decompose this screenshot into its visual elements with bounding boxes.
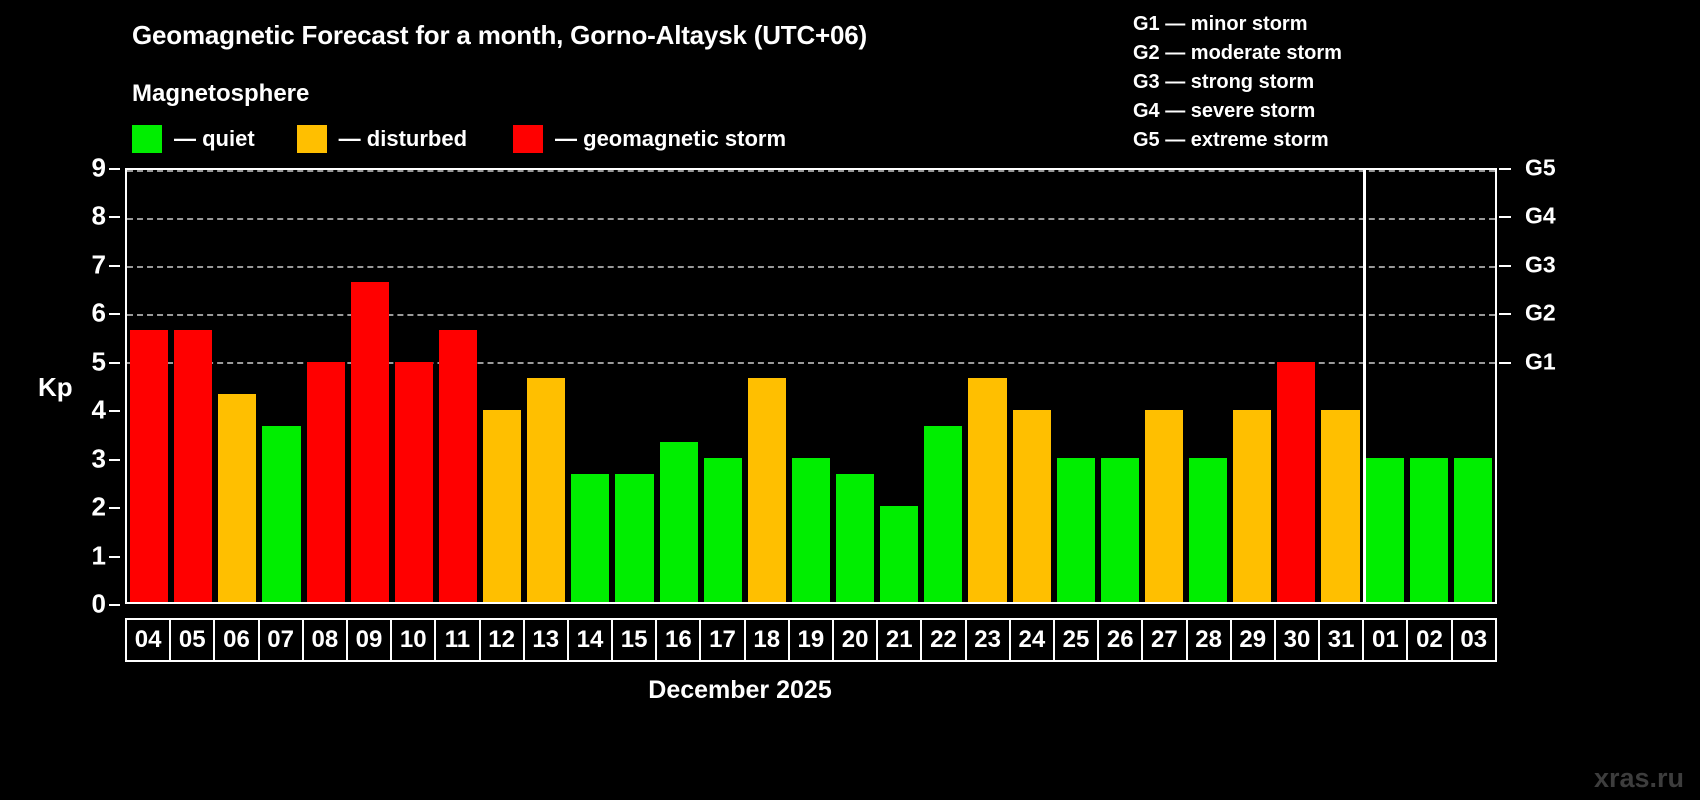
x-label-day-16[interactable]: 16 [655,618,701,662]
bar-day-11[interactable] [439,330,477,602]
bar-day-25[interactable] [1057,458,1095,602]
bar-day-22[interactable] [924,426,962,602]
bar-slot-29[interactable] [1230,170,1274,602]
y-tick-mark-2 [109,507,120,509]
bar-day-02[interactable] [1410,458,1448,602]
bar-day-06[interactable] [218,394,256,602]
y-tick-mark-7 [109,265,120,267]
x-label-day-19[interactable]: 19 [788,618,834,662]
bar-day-04[interactable] [130,330,168,602]
bar-slot-03[interactable] [1451,170,1495,602]
x-label-day-23[interactable]: 23 [965,618,1011,662]
bar-day-30[interactable] [1277,362,1315,602]
g-tick-mark-g3 [1499,265,1511,267]
bar-day-17[interactable] [704,458,742,602]
bar-slot-23[interactable] [965,170,1009,602]
bar-day-27[interactable] [1145,410,1183,602]
x-label-day-22[interactable]: 22 [920,618,966,662]
y-tick-mark-4 [109,410,120,412]
x-label-day-28[interactable]: 28 [1186,618,1232,662]
x-label-day-13[interactable]: 13 [523,618,569,662]
bar-series [127,170,1495,602]
bar-day-21[interactable] [880,506,918,602]
y-axis-title: Kp [38,372,73,403]
x-label-day-27[interactable]: 27 [1141,618,1187,662]
bar-day-16[interactable] [660,442,698,602]
y-tick-label-4: 4 [92,395,106,426]
bar-slot-10[interactable] [392,170,436,602]
y-tick-mark-8 [109,216,120,218]
g-tick-label-g1: G1 [1525,348,1556,375]
g-tick-label-g3: G3 [1525,251,1556,278]
bar-day-19[interactable] [792,458,830,602]
bar-slot-16[interactable] [657,170,701,602]
x-label-day-10[interactable]: 10 [390,618,436,662]
bar-slot-17[interactable] [701,170,745,602]
bar-day-26[interactable] [1101,458,1139,602]
y-tick-label-3: 3 [92,443,106,474]
bar-slot-08[interactable] [304,170,348,602]
bar-day-12[interactable] [483,410,521,602]
x-axis-day-labels: 0405060708091011121314151617181920212223… [125,618,1497,662]
bar-slot-27[interactable] [1142,170,1186,602]
bar-slot-25[interactable] [1054,170,1098,602]
bar-day-15[interactable] [615,474,653,602]
x-label-day-08[interactable]: 08 [302,618,348,662]
bar-day-23[interactable] [968,378,1006,602]
x-label-day-12[interactable]: 12 [479,618,525,662]
plot-panel [125,168,1497,604]
bar-day-03[interactable] [1454,458,1492,602]
bar-slot-04[interactable] [127,170,171,602]
bar-slot-22[interactable] [921,170,965,602]
y-tick-label-9: 9 [92,153,106,184]
x-label-day-25[interactable]: 25 [1053,618,1099,662]
x-label-day-17[interactable]: 17 [699,618,745,662]
bar-day-01[interactable] [1366,458,1404,602]
x-label-day-05[interactable]: 05 [169,618,215,662]
g-tick-label-g2: G2 [1525,300,1556,327]
bar-day-09[interactable] [351,282,389,602]
bar-slot-19[interactable] [789,170,833,602]
bar-slot-26[interactable] [1098,170,1142,602]
y-tick-label-0: 0 [92,589,106,620]
bar-slot-14[interactable] [568,170,612,602]
bar-day-10[interactable] [395,362,433,602]
g-tick-label-g5: G5 [1525,155,1556,182]
x-label-day-09[interactable]: 09 [346,618,392,662]
bar-day-07[interactable] [262,426,300,602]
bar-slot-30[interactable] [1274,170,1318,602]
month-separator [1363,170,1366,602]
chart-area: 0123456789 Kp G1G2G3G4G5 040506070809101… [0,0,1700,800]
y-tick-mark-0 [109,604,120,606]
g-tick-mark-g4 [1499,216,1511,218]
y-tick-label-1: 1 [92,540,106,571]
bar-slot-21[interactable] [877,170,921,602]
x-label-day-30[interactable]: 30 [1274,618,1320,662]
x-label-day-31[interactable]: 31 [1318,618,1364,662]
watermark: xras.ru [1594,763,1684,794]
bar-slot-15[interactable] [612,170,656,602]
bar-slot-28[interactable] [1186,170,1230,602]
x-label-day-04[interactable]: 04 [125,618,171,662]
x-label-day-02[interactable]: 02 [1406,618,1452,662]
x-label-day-11[interactable]: 11 [434,618,480,662]
y-tick-mark-5 [109,362,120,364]
x-label-day-06[interactable]: 06 [213,618,259,662]
bar-day-24[interactable] [1013,410,1051,602]
x-label-day-07[interactable]: 07 [258,618,304,662]
x-label-day-21[interactable]: 21 [876,618,922,662]
bar-slot-07[interactable] [259,170,303,602]
x-label-day-03[interactable]: 03 [1451,618,1497,662]
y-tick-label-8: 8 [92,201,106,232]
g-tick-mark-g2 [1499,313,1511,315]
y-tick-mark-3 [109,459,120,461]
y-tick-label-5: 5 [92,346,106,377]
g-scale-axis: G1G2G3G4G5 [1499,168,1579,604]
x-label-day-01[interactable]: 01 [1362,618,1408,662]
x-label-day-26[interactable]: 26 [1097,618,1143,662]
bar-slot-02[interactable] [1407,170,1451,602]
x-label-day-14[interactable]: 14 [567,618,613,662]
bar-slot-13[interactable] [524,170,568,602]
bar-slot-11[interactable] [436,170,480,602]
y-tick-mark-6 [109,313,120,315]
bar-day-05[interactable] [174,330,212,602]
y-tick-label-6: 6 [92,298,106,329]
x-axis-caption: December 2025 [0,676,1700,705]
bar-slot-06[interactable] [215,170,259,602]
bar-slot-18[interactable] [745,170,789,602]
y-tick-mark-9 [109,168,120,170]
bar-day-13[interactable] [527,378,565,602]
bar-slot-31[interactable] [1318,170,1362,602]
bar-slot-20[interactable] [833,170,877,602]
g-tick-mark-g1 [1499,362,1511,364]
bar-slot-05[interactable] [171,170,215,602]
bar-slot-09[interactable] [348,170,392,602]
bar-slot-12[interactable] [480,170,524,602]
x-label-day-15[interactable]: 15 [611,618,657,662]
x-label-day-18[interactable]: 18 [744,618,790,662]
bar-day-28[interactable] [1189,458,1227,602]
x-axis-caption-text: December 2025 [648,676,831,704]
y-tick-label-2: 2 [92,492,106,523]
bar-day-14[interactable] [571,474,609,602]
bar-day-20[interactable] [836,474,874,602]
x-label-day-24[interactable]: 24 [1009,618,1055,662]
bar-slot-24[interactable] [1010,170,1054,602]
g-tick-mark-g5 [1499,168,1511,170]
bar-day-31[interactable] [1321,410,1359,602]
x-label-day-29[interactable]: 29 [1230,618,1276,662]
bar-slot-01[interactable] [1363,170,1407,602]
bar-day-29[interactable] [1233,410,1271,602]
bar-day-18[interactable] [748,378,786,602]
x-label-day-20[interactable]: 20 [832,618,878,662]
y-tick-mark-1 [109,556,120,558]
y-tick-label-7: 7 [92,249,106,280]
bar-day-08[interactable] [307,362,345,602]
g-tick-label-g4: G4 [1525,203,1556,230]
